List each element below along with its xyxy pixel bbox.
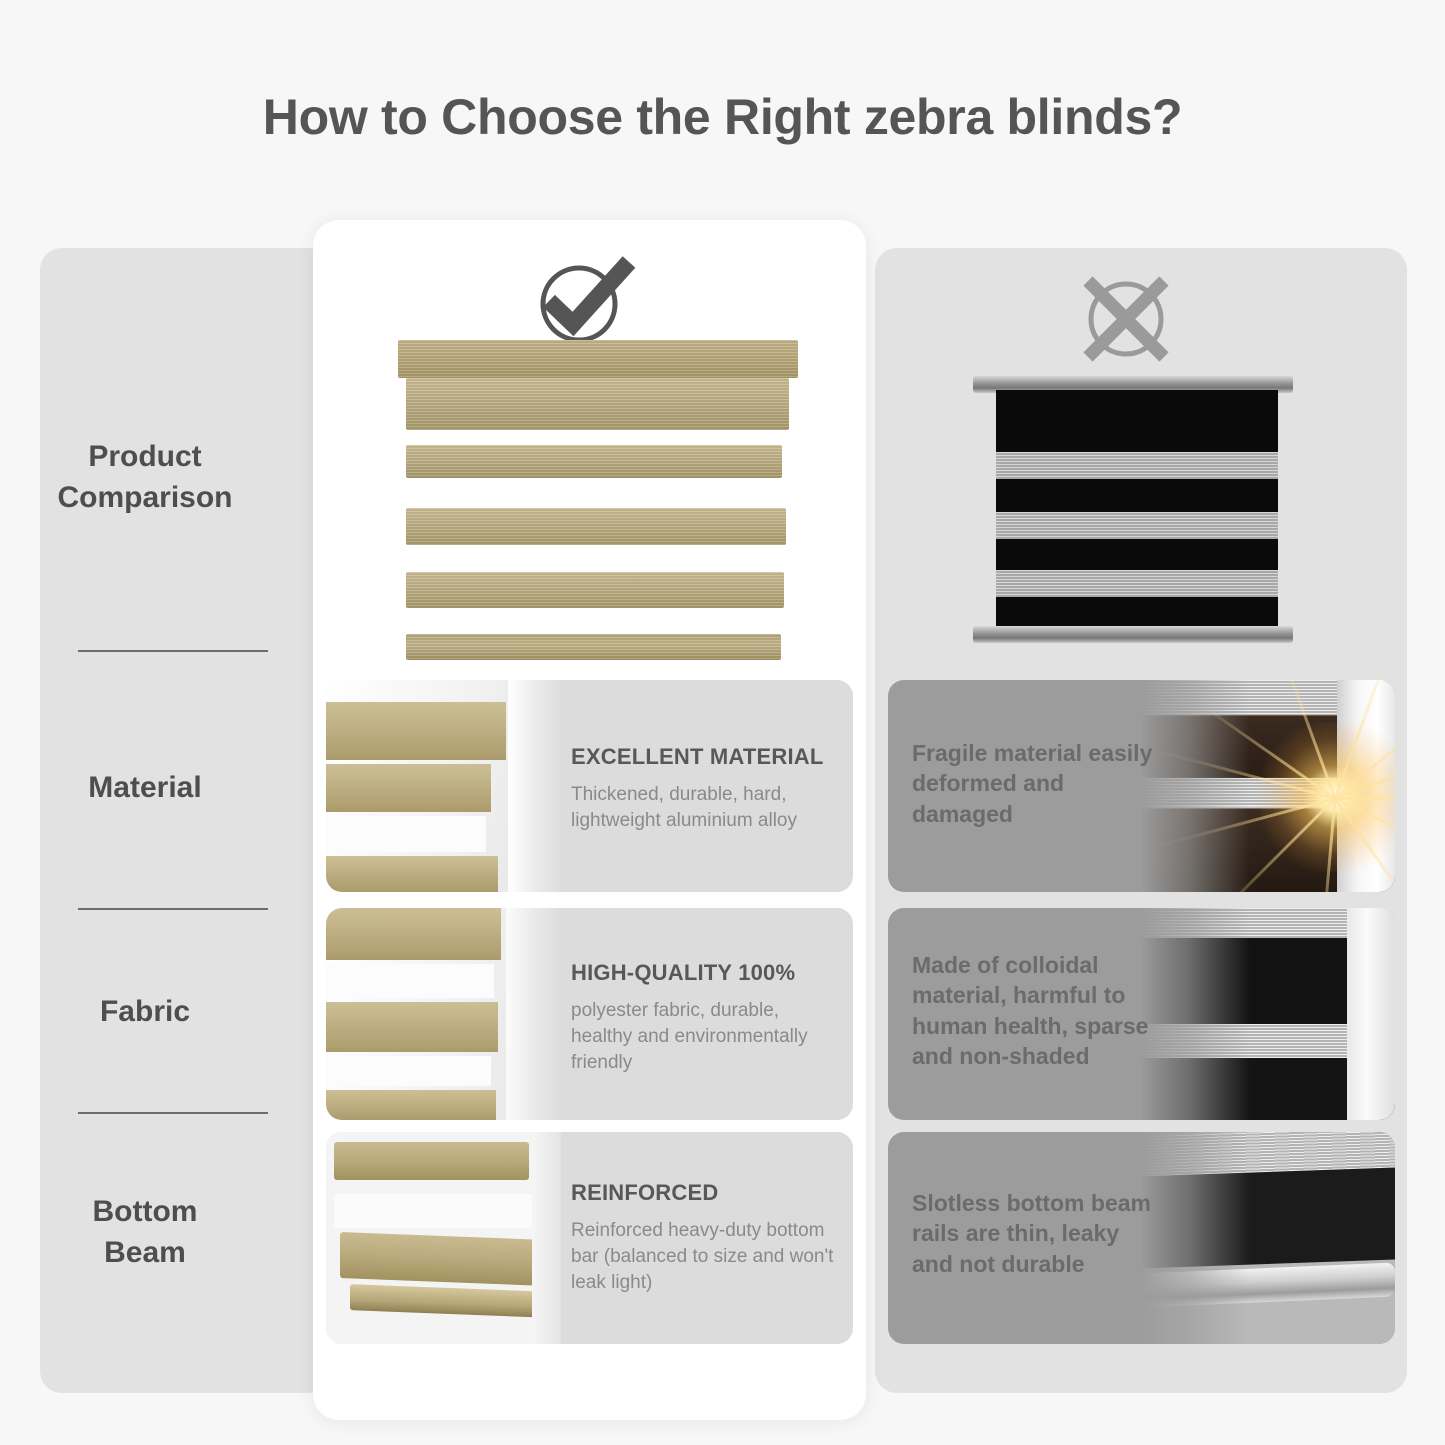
bad-bottom-beam-photo — [1140, 1132, 1395, 1344]
blind-headrail — [398, 340, 798, 378]
sidebar-label-line1: Bottom — [93, 1195, 198, 1228]
good-bottom-beam-text: REINFORCED Reinforced heavy-duty bottom … — [571, 1180, 835, 1297]
blind-band — [406, 378, 789, 430]
bad-material-photo — [1140, 680, 1395, 892]
sidebar-label-line2: Comparison — [57, 481, 232, 514]
good-material-heading: EXCELLENT MATERIAL — [571, 744, 835, 770]
sidebar-item-fabric: Fabric — [0, 992, 290, 1033]
check-circle-icon — [533, 252, 637, 353]
good-material-body: Thickened, durable, hard, lightweight al… — [571, 782, 835, 834]
good-fabric-photo — [326, 908, 561, 1120]
sidebar-label-line2: Beam — [104, 1236, 186, 1269]
bad-row-fabric: Made of colloidal material, harmful to h… — [888, 908, 1395, 1120]
bad-fabric-photo — [1140, 908, 1395, 1120]
bad-row-material: Fragile material easily deformed and dam… — [888, 680, 1395, 892]
sidebar-divider-1 — [78, 650, 268, 652]
good-bottom-beam-heading: REINFORCED — [571, 1180, 835, 1206]
bad-row-bottom-beam: Slotless bottom beam rails are thin, lea… — [888, 1132, 1395, 1344]
bad-fabric-text: Made of colloidal material, harmful to h… — [912, 950, 1174, 1071]
bad-bottom-beam-body: Slotless bottom beam rails are thin, lea… — [912, 1188, 1162, 1279]
good-row-fabric: HIGH-QUALITY 100% polyester fabric, dura… — [326, 908, 853, 1120]
blind-band — [406, 508, 786, 545]
blind-band — [406, 572, 784, 608]
good-fabric-body: polyester fabric, durable, healthy and e… — [571, 998, 835, 1077]
cross-circle-icon — [1078, 272, 1174, 369]
blind-sheer-band — [996, 512, 1278, 539]
sun-glare-icon — [1260, 722, 1395, 872]
blind-sheer-band — [996, 452, 1278, 479]
good-bottom-beam-body: Reinforced heavy-duty bottom bar (balanc… — [571, 1218, 835, 1297]
good-bottom-beam-photo — [326, 1132, 561, 1344]
blind-bottom-rail — [973, 626, 1293, 643]
sidebar-divider-2 — [78, 908, 268, 910]
blind-sheer-band — [996, 570, 1278, 597]
blind-body — [996, 390, 1278, 630]
page-title: How to Choose the Right zebra blinds? — [0, 88, 1445, 146]
blind-bottom-bar — [406, 634, 781, 660]
good-row-material: EXCELLENT MATERIAL Thickened, durable, h… — [326, 680, 853, 892]
bad-fabric-body: Made of colloidal material, harmful to h… — [912, 950, 1174, 1071]
sidebar-divider-3 — [78, 1112, 268, 1114]
sidebar-item-bottom-beam: Bottom Beam — [0, 1192, 290, 1273]
good-fabric-text: HIGH-QUALITY 100% polyester fabric, dura… — [571, 960, 835, 1077]
good-fabric-heading: HIGH-QUALITY 100% — [571, 960, 835, 986]
good-material-photo — [326, 680, 561, 892]
good-material-text: EXCELLENT MATERIAL Thickened, durable, h… — [571, 744, 835, 834]
sidebar-item-product-comparison: Product Comparison — [0, 437, 290, 518]
bad-material-body: Fragile material easily deformed and dam… — [912, 738, 1162, 829]
blind-band — [406, 445, 782, 478]
bad-material-text: Fragile material easily deformed and dam… — [912, 738, 1162, 829]
bad-bottom-beam-text: Slotless bottom beam rails are thin, lea… — [912, 1188, 1162, 1279]
sidebar-label-line1: Product — [88, 440, 201, 473]
good-hero-blind-image — [380, 340, 798, 670]
sidebar-item-material: Material — [0, 768, 290, 809]
bad-hero-blind-image — [968, 368, 1298, 648]
good-row-bottom-beam: REINFORCED Reinforced heavy-duty bottom … — [326, 1132, 853, 1344]
